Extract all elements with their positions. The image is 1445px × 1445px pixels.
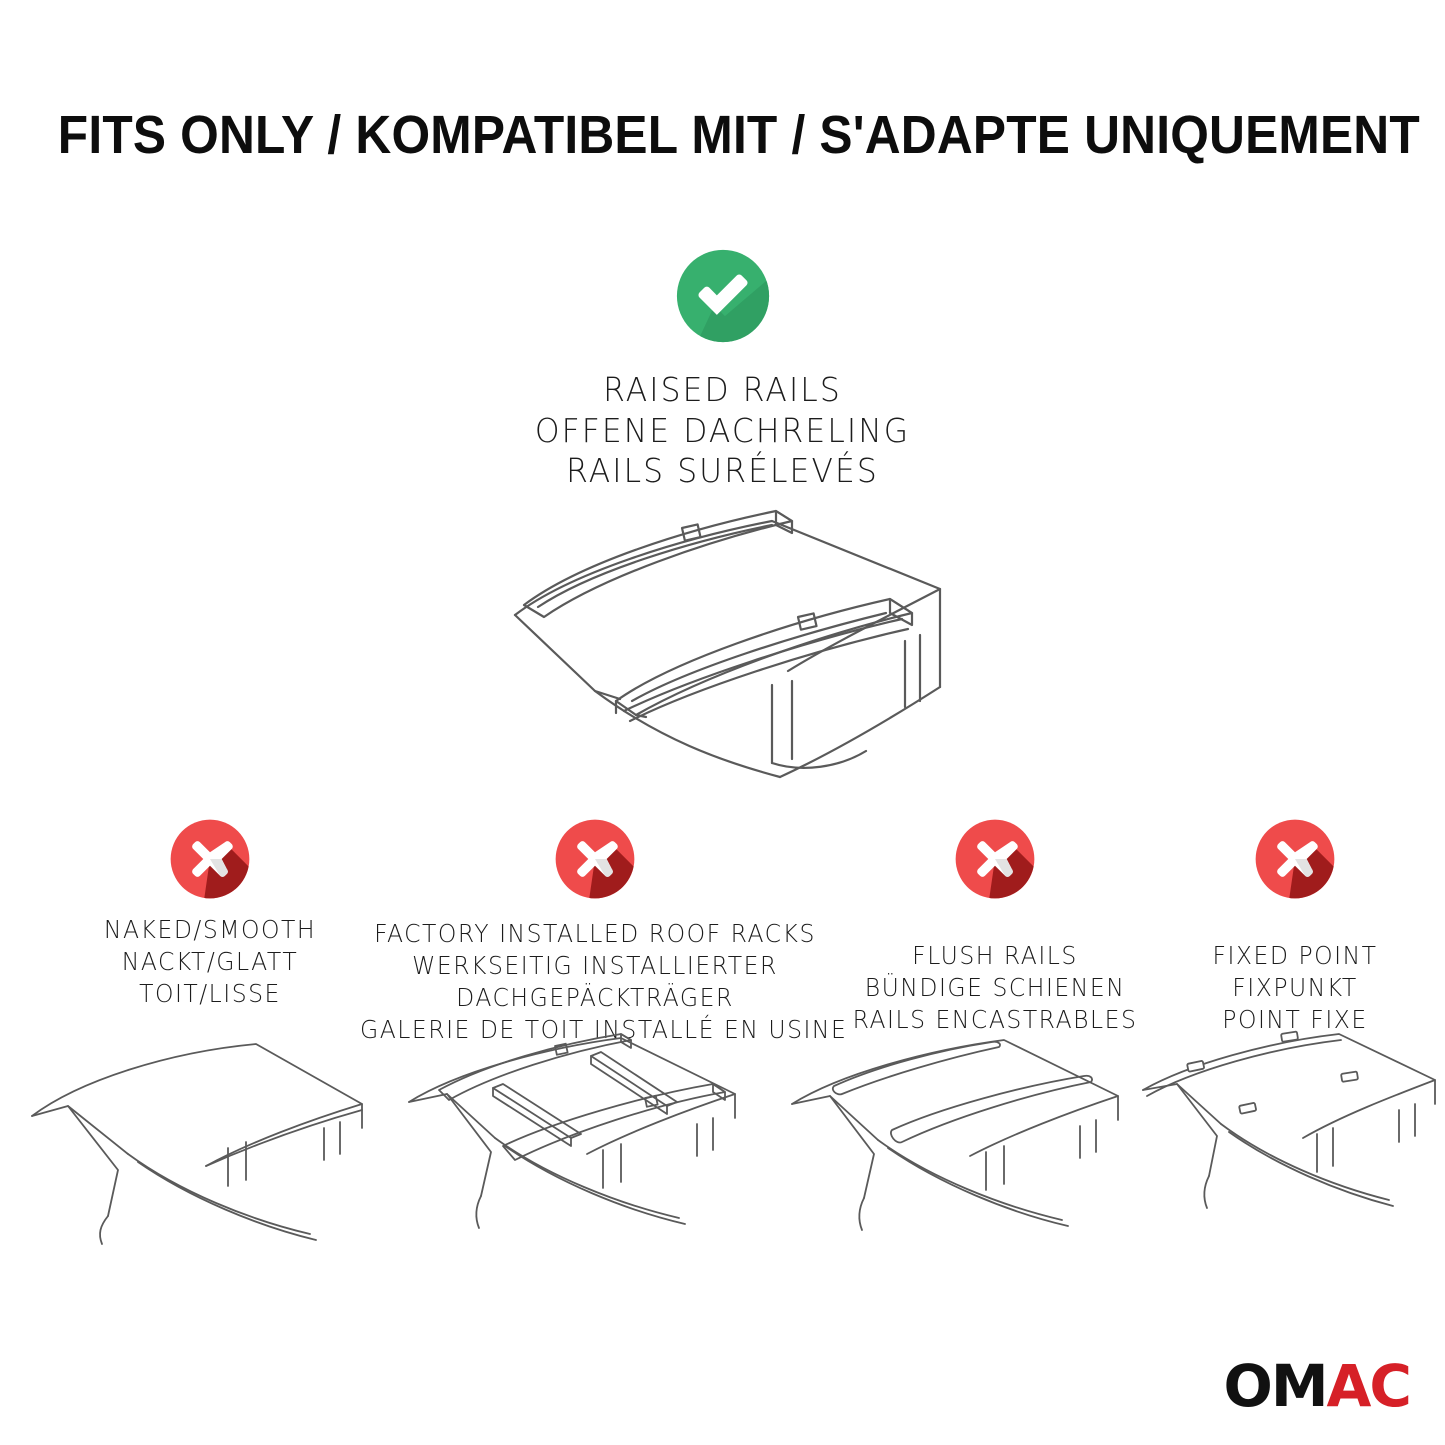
- compatible-labels: RAISED RAILS OFFENE DACHRELING RAILS SUR…: [36, 370, 1409, 492]
- car-roof-raised-rails-illustration: [420, 495, 1010, 795]
- incompatible-label-de: BÜNDIGE SCHIENEN: [849, 972, 1140, 1004]
- incompatible-label-en: FLUSH RAILS: [849, 940, 1140, 972]
- incompatible-label-de-1: WERKSEITIG INSTALLIERTER: [360, 950, 830, 982]
- car-roof-factory-roof-racks-illustration: [395, 1020, 775, 1270]
- incompatible-label-en: NAKED/SMOOTH: [55, 914, 365, 946]
- logo-text-dark: OM: [1224, 1357, 1327, 1415]
- car-roof-fixed-point-illustration: [1135, 1020, 1445, 1260]
- incompatible-label-de-2: DACHGEPÄCKTRÄGER: [360, 982, 830, 1014]
- x-circle-icon: [169, 818, 251, 900]
- logo-text-accent: AC: [1327, 1357, 1410, 1415]
- compatible-label-de: OFFENE DACHRELING: [36, 411, 1409, 452]
- incompatible-illustrations: [0, 1020, 1445, 1270]
- incompatible-item-naked-smooth: NAKED/SMOOTH NACKT/GLATT TOIT/LISSE: [45, 818, 375, 1010]
- incompatible-section: NAKED/SMOOTH NACKT/GLATT TOIT/LISSE FACT…: [0, 818, 1445, 1048]
- incompatible-item-factory-roof-racks: FACTORY INSTALLED ROOF RACKS WERKSEITIG …: [345, 818, 845, 1046]
- compatible-label-en: RAISED RAILS: [36, 370, 1409, 411]
- compatible-section: RAISED RAILS OFFENE DACHRELING RAILS SUR…: [0, 248, 1445, 492]
- x-circle-icon: [554, 818, 636, 900]
- incompatible-labels: NAKED/SMOOTH NACKT/GLATT TOIT/LISSE: [55, 914, 365, 1010]
- car-roof-flush-rails-illustration: [780, 1020, 1160, 1260]
- x-circle-icon: [1254, 818, 1336, 900]
- check-circle-icon: [675, 248, 771, 344]
- omac-logo: OMAC: [1224, 1355, 1410, 1417]
- incompatible-item-fixed-point: FIXED POINT FIXPUNKT POINT FIXE: [1150, 818, 1440, 1036]
- page-title: FITS ONLY / KOMPATIBEL MIT / S'ADAPTE UN…: [58, 104, 1387, 166]
- incompatible-label-de: FIXPUNKT: [1159, 972, 1432, 1004]
- compatible-label-fr: RAILS SURÉLEVÉS: [36, 451, 1409, 492]
- incompatible-item-flush-rails: FLUSH RAILS BÜNDIGE SCHIENEN RAILS ENCAS…: [840, 818, 1150, 1036]
- incompatible-label-fr: TOIT/LISSE: [55, 978, 365, 1010]
- incompatible-label-en: FACTORY INSTALLED ROOF RACKS: [360, 918, 830, 950]
- incompatible-label-de: NACKT/GLATT: [55, 946, 365, 978]
- x-circle-icon: [954, 818, 1036, 900]
- car-roof-naked-smooth-illustration: [10, 1020, 390, 1260]
- incompatible-label-en: FIXED POINT: [1159, 940, 1432, 972]
